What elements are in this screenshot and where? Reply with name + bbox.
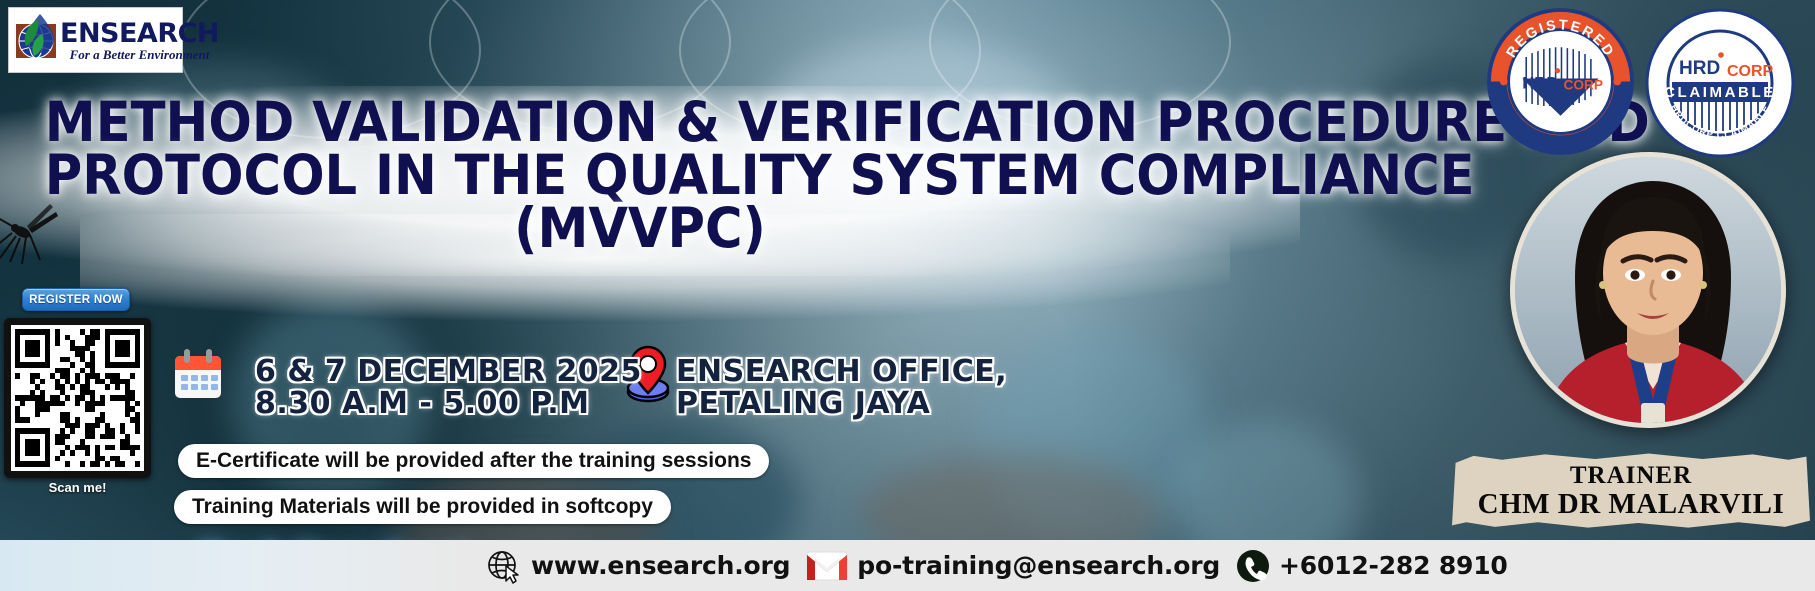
globe-leaf-droplet-icon bbox=[14, 12, 58, 68]
page-title: METHOD VALIDATION & VERIFICATION PROCEDU… bbox=[0, 96, 1280, 254]
scan-me-label: Scan me! bbox=[4, 480, 151, 495]
event-venue: ENSEARCH OFFICE, PETALING JAYA bbox=[676, 356, 1007, 421]
svg-text:HRD: HRD bbox=[1522, 73, 1558, 92]
gmail-envelope-icon bbox=[806, 550, 848, 582]
event-date: 6 & 7 DECEMBER 2025 bbox=[255, 356, 642, 388]
trainer-plaque: TRAINER CHM DR MALARVILI bbox=[1452, 452, 1810, 530]
website-contact[interactable]: www.ensearch.org bbox=[486, 548, 790, 584]
svg-text:CORP: CORP bbox=[1727, 63, 1774, 80]
phone-circle-icon bbox=[1236, 549, 1270, 583]
logo-wordmark: ENSEARCH bbox=[60, 20, 219, 47]
trainer-name: CHM DR MALARVILI bbox=[1478, 489, 1785, 519]
headline-line-2: PROTOCOL IN THE QUALITY SYSTEM COMPLIANC… bbox=[45, 149, 1235, 202]
ensearch-logo: ENSEARCH For a Better Environment bbox=[8, 7, 183, 73]
calendar-icon bbox=[172, 348, 224, 400]
globe-cursor-icon bbox=[486, 548, 522, 584]
hrdcorp-claimable-badge-icon: HRD CORP CLAIMABLE HRDCORP CLAIMABLE HRD… bbox=[1645, 8, 1795, 158]
register-now-button[interactable]: REGISTER NOW bbox=[22, 288, 130, 311]
note-pill-certificate: E-Certificate will be provided after the… bbox=[178, 444, 769, 478]
contact-bar: www.ensearch.org po-training@ensearch.or… bbox=[0, 540, 1815, 591]
avatar bbox=[1510, 152, 1786, 428]
qr-code-icon[interactable] bbox=[4, 318, 151, 478]
event-datetime: 6 & 7 DECEMBER 2025 8.30 A.M - 5.00 P.M bbox=[255, 356, 642, 421]
website-text: www.ensearch.org bbox=[531, 551, 790, 580]
promo-banner: ENSEARCH For a Better Environment METHOD… bbox=[0, 0, 1815, 591]
trainer-role: TRAINER bbox=[1570, 463, 1692, 489]
hrdcorp-registered-badge-icon: HRD CORP REGISTERED TRAINING PROVIDER bbox=[1487, 8, 1634, 155]
event-time: 8.30 A.M - 5.00 P.M bbox=[255, 388, 642, 420]
phone-contact[interactable]: +6012-282 8910 bbox=[1236, 549, 1508, 583]
venue-line-1: ENSEARCH OFFICE, bbox=[676, 356, 1007, 388]
headline-line-1: METHOD VALIDATION & VERIFICATION PROCEDU… bbox=[45, 96, 1235, 149]
headline-line-3: (MVVPC) bbox=[45, 202, 1235, 255]
email-text: po-training@ensearch.org bbox=[857, 551, 1220, 580]
venue-line-2: PETALING JAYA bbox=[676, 388, 1007, 420]
email-contact[interactable]: po-training@ensearch.org bbox=[806, 550, 1220, 582]
svg-text:CORP: CORP bbox=[1563, 77, 1603, 92]
svg-text:HRD: HRD bbox=[1679, 58, 1720, 79]
logo-tagline: For a Better Environment bbox=[60, 48, 219, 61]
phone-text: +6012-282 8910 bbox=[1279, 551, 1508, 580]
badge-claimable-label: CLAIMABLE bbox=[1664, 84, 1776, 101]
note-pill-materials: Training Materials will be provided in s… bbox=[174, 490, 671, 524]
